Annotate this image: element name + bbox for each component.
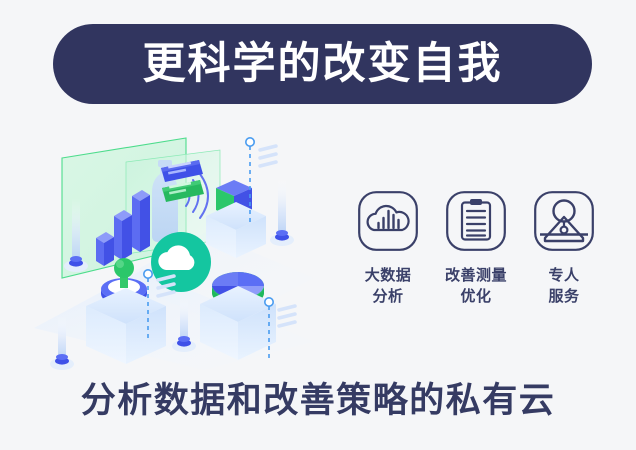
feature-label-big-data: 大数据 分析	[365, 265, 412, 308]
footer-tagline: 分析数据和改善策略的私有云	[0, 383, 636, 418]
support-agent-icon	[533, 190, 595, 252]
feature-label-dedicated-service: 专人 服务	[548, 265, 579, 308]
clipboard-icon	[445, 190, 507, 252]
feature-item-measure-optimize[interactable]: 改善测量 优化	[440, 190, 512, 308]
feature-label-measure-optimize: 改善测量 优化	[445, 265, 507, 308]
gradient-pillar-3	[270, 178, 294, 246]
cloud-badge	[151, 232, 211, 292]
feature-item-big-data[interactable]: 大数据 分析	[352, 190, 424, 308]
page-title: 更科学的改变自我	[143, 43, 503, 86]
isometric-illustration	[14, 120, 354, 370]
feature-item-dedicated-service[interactable]: 专人 服务	[528, 190, 600, 308]
cloud-bar-chart-icon	[357, 190, 419, 252]
feature-list: 大数据 分析 改善测量 优化	[352, 190, 600, 340]
banner-root: 更科学的改变自我	[0, 0, 636, 450]
header-pill: 更科学的改变自我	[53, 24, 592, 104]
